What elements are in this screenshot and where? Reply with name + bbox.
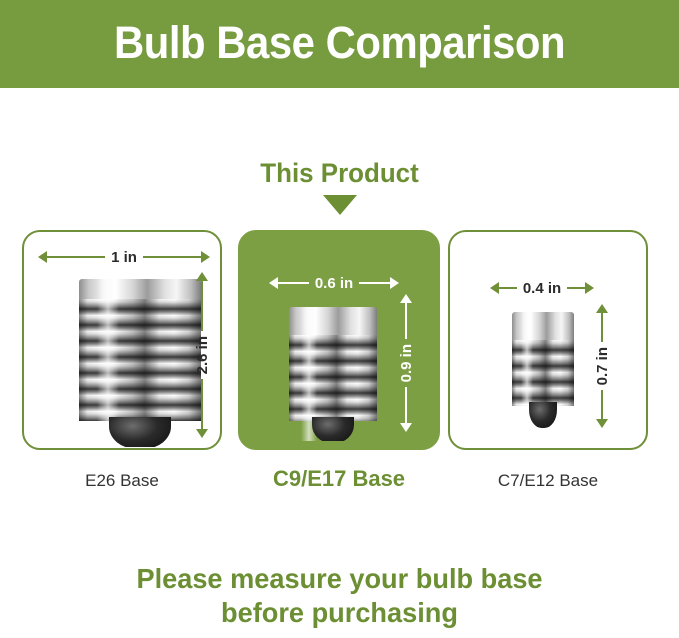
- e26-width-label: 1 in: [105, 250, 143, 265]
- e26-bulb-base-image: [79, 279, 201, 447]
- bulb-threads: [289, 335, 377, 421]
- c9-e17-bulb-base-image: [289, 307, 377, 441]
- footer-line-2: before purchasing: [10, 596, 669, 630]
- panel-c9-e17-base[interactable]: 0.6 in 0.9 in: [238, 230, 440, 450]
- bulb-threads: [79, 299, 201, 421]
- arrow-head-left-icon: [490, 282, 499, 294]
- arrow-line: [405, 387, 407, 423]
- bulb-threads: [512, 340, 574, 406]
- arrow-head-up-icon: [196, 272, 208, 281]
- arrow-head-up-icon: [400, 294, 412, 303]
- arrow-line: [601, 390, 603, 419]
- arrow-line: [601, 313, 603, 342]
- c7-height-label: 0.7 in: [595, 342, 610, 390]
- panel-e26-base[interactable]: 1 in 2.6 in: [22, 230, 222, 450]
- c9-height-dimension: 0.9 in: [396, 294, 416, 432]
- caption-e26-base: E26 Base: [22, 472, 222, 489]
- bulb-contact-tip: [529, 402, 557, 428]
- arrow-line: [47, 256, 105, 258]
- c7-width-dimension: 0.4 in: [490, 279, 594, 297]
- e26-height-dimension: 2.6 in: [192, 272, 212, 438]
- arrow-head-up-icon: [596, 304, 608, 313]
- c7-e12-bulb-base-image: [512, 312, 574, 428]
- triangle-down-icon: [323, 195, 357, 215]
- footer-note: Please measure your bulb base before pur…: [0, 562, 679, 630]
- bulb-contact-tip: [109, 417, 171, 447]
- arrow-line: [278, 282, 309, 284]
- arrow-line: [359, 282, 390, 284]
- arrow-head-right-icon: [585, 282, 594, 294]
- arrow-head-right-icon: [390, 277, 399, 289]
- c9-width-dimension: 0.6 in: [269, 274, 399, 292]
- arrow-head-down-icon: [196, 429, 208, 438]
- arrow-line: [143, 256, 201, 258]
- bulb-contact-tip: [312, 417, 354, 441]
- arrow-head-left-icon: [269, 277, 278, 289]
- arrow-line: [201, 281, 203, 331]
- c9-height-label: 0.9 in: [399, 339, 414, 387]
- e26-height-label: 2.6 in: [195, 331, 210, 379]
- this-product-label: This Product: [260, 160, 418, 187]
- bulb-collar: [289, 307, 377, 337]
- arrow-line: [201, 379, 203, 429]
- arrow-line: [405, 303, 407, 339]
- c7-width-label: 0.4 in: [517, 281, 567, 296]
- e26-width-dimension: 1 in: [38, 248, 210, 266]
- bulb-collar: [512, 312, 574, 342]
- arrow-head-left-icon: [38, 251, 47, 263]
- header-banner: Bulb Base Comparison: [0, 0, 679, 88]
- bulb-collar: [79, 279, 201, 301]
- this-product-callout: This Product: [0, 160, 679, 215]
- caption-c9-e17-base: C9/E17 Base: [238, 468, 440, 490]
- caption-c7-e12-base: C7/E12 Base: [448, 472, 648, 489]
- footer-line-1: Please measure your bulb base: [10, 562, 669, 596]
- arrow-head-right-icon: [201, 251, 210, 263]
- page-title: Bulb Base Comparison: [114, 20, 565, 69]
- arrow-line: [567, 287, 585, 289]
- c7-height-dimension: 0.7 in: [592, 304, 612, 428]
- panel-caption-row: E26 Base C9/E17 Base C7/E12 Base: [0, 468, 679, 502]
- c9-width-label: 0.6 in: [309, 276, 359, 291]
- arrow-line: [499, 287, 517, 289]
- bulb-base-comparison-row: 1 in 2.6 in 0.6 in: [0, 230, 679, 452]
- panel-c7-e12-base[interactable]: 0.4 in 0.7 in: [448, 230, 648, 450]
- arrow-head-down-icon: [596, 419, 608, 428]
- arrow-head-down-icon: [400, 423, 412, 432]
